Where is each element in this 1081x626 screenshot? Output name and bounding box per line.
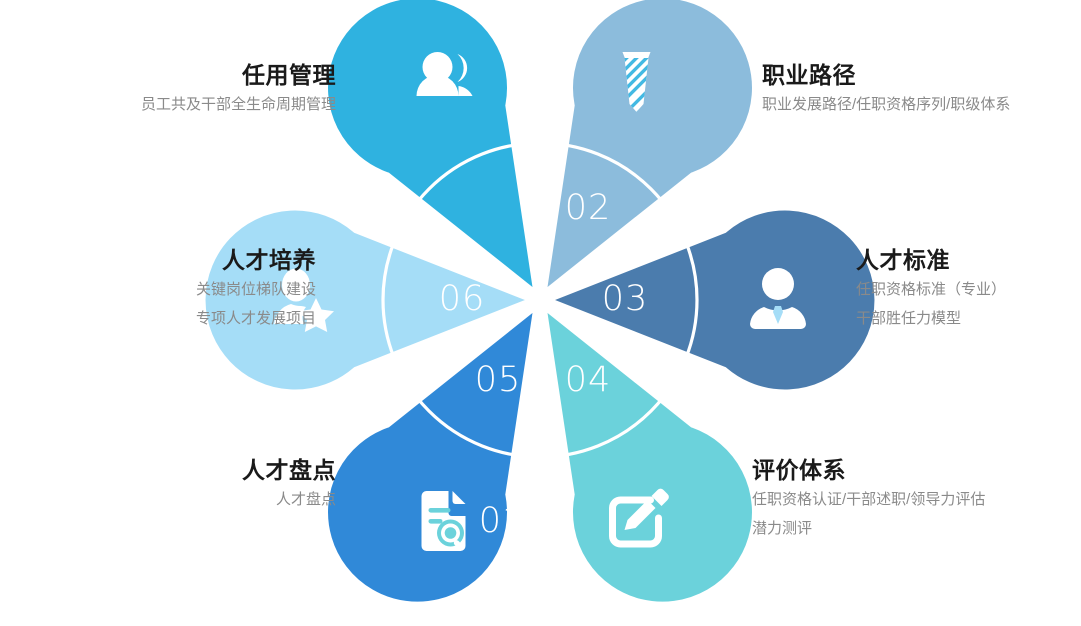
label-subtitle-05-line1: 人才盘点 <box>242 486 336 515</box>
petal-number-06: 06 <box>439 279 486 319</box>
label-subtitle-03-line1: 任职资格标准（专业） <box>856 276 1006 305</box>
petal-number-04: 04 <box>565 360 612 400</box>
label-title-06: 人才培养 <box>196 245 316 276</box>
label-subtitle-06-line2: 专项人才发展项目 <box>196 305 316 334</box>
petal-number-01: 01 <box>479 501 526 541</box>
label-title-03: 人才标准 <box>856 245 1006 276</box>
label-block-05: 人才盘点 人才盘点 <box>242 455 336 515</box>
label-subtitle-01-line1: 员工共及干部全生命周期管理 <box>141 91 336 120</box>
petal-number-02: 02 <box>565 188 612 228</box>
label-title-02: 职业路径 <box>762 60 1010 91</box>
label-title-01: 任用管理 <box>141 60 336 91</box>
petal-number-03: 03 <box>602 279 649 319</box>
label-subtitle-04-line2: 潜力测评 <box>752 515 985 544</box>
label-title-05: 人才盘点 <box>242 455 336 486</box>
diagram-canvas: 01 02 03 04 05 06 <box>0 0 1081 626</box>
label-title-04: 评价体系 <box>752 455 985 486</box>
label-subtitle-04-line1: 任职资格认证/干部述职/领导力评估 <box>752 486 985 515</box>
document-search-icon <box>422 491 466 551</box>
label-block-02: 职业路径 职业发展路径/任职资格序列/职级体系 <box>762 60 1010 120</box>
label-block-04: 评价体系 任职资格认证/干部述职/领导力评估 潜力测评 <box>752 455 985 543</box>
label-block-03: 人才标准 任职资格标准（专业） 干部胜任力模型 <box>856 245 1006 333</box>
label-subtitle-06-line1: 关键岗位梯队建设 <box>196 276 316 305</box>
petal-number-05: 05 <box>475 360 522 400</box>
label-block-06: 人才培养 关键岗位梯队建设 专项人才发展项目 <box>196 245 316 333</box>
label-subtitle-02-line1: 职业发展路径/任职资格序列/职级体系 <box>762 91 1010 120</box>
label-block-01: 任用管理 员工共及干部全生命周期管理 <box>141 60 336 120</box>
label-subtitle-03-line2: 干部胜任力模型 <box>856 305 1006 334</box>
